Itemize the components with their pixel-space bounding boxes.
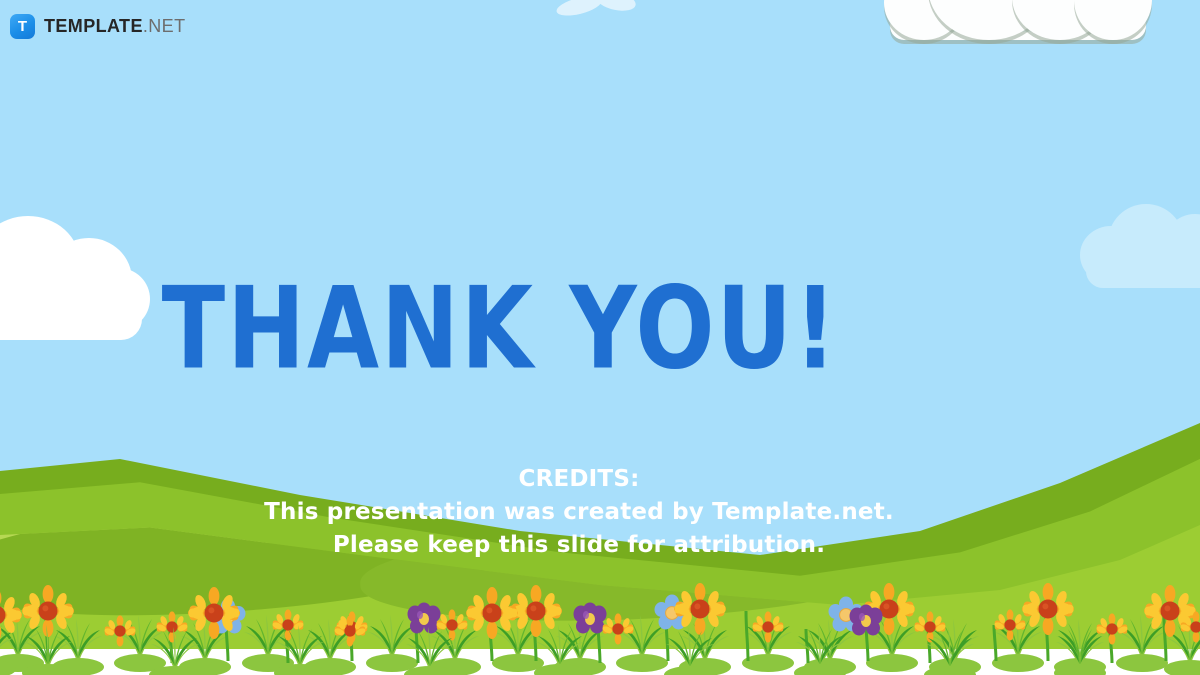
credits-line-2: Please keep this slide for attribution. — [0, 529, 1158, 562]
template-net-logo-icon: T — [10, 14, 35, 39]
cloud-wisp-top-icon — [556, 0, 648, 16]
credits-block: CREDITS: This presentation was created b… — [0, 463, 1158, 562]
slide-canvas: THANK YOU! CREDITS: This presentation wa… — [0, 0, 1200, 675]
credits-heading: CREDITS: — [0, 463, 1158, 496]
page-title: THANK YOU! — [15, 272, 985, 385]
cloud-right-faint-icon — [1080, 200, 1200, 292]
grass-and-flowers-illustration — [0, 575, 1200, 675]
credits-line-1: This presentation was created by Templat… — [0, 496, 1158, 529]
logo-mark-letter: T — [18, 19, 27, 34]
logo-name-bold: TEMPLATE — [44, 16, 143, 36]
logo-name-light: .NET — [143, 16, 186, 36]
logo-wordmark: TEMPLATE.NET — [44, 16, 185, 37]
template-net-logo[interactable]: T TEMPLATE.NET — [10, 14, 185, 39]
flower-border — [0, 575, 1200, 675]
cloud-top-right-icon — [884, 0, 1150, 60]
